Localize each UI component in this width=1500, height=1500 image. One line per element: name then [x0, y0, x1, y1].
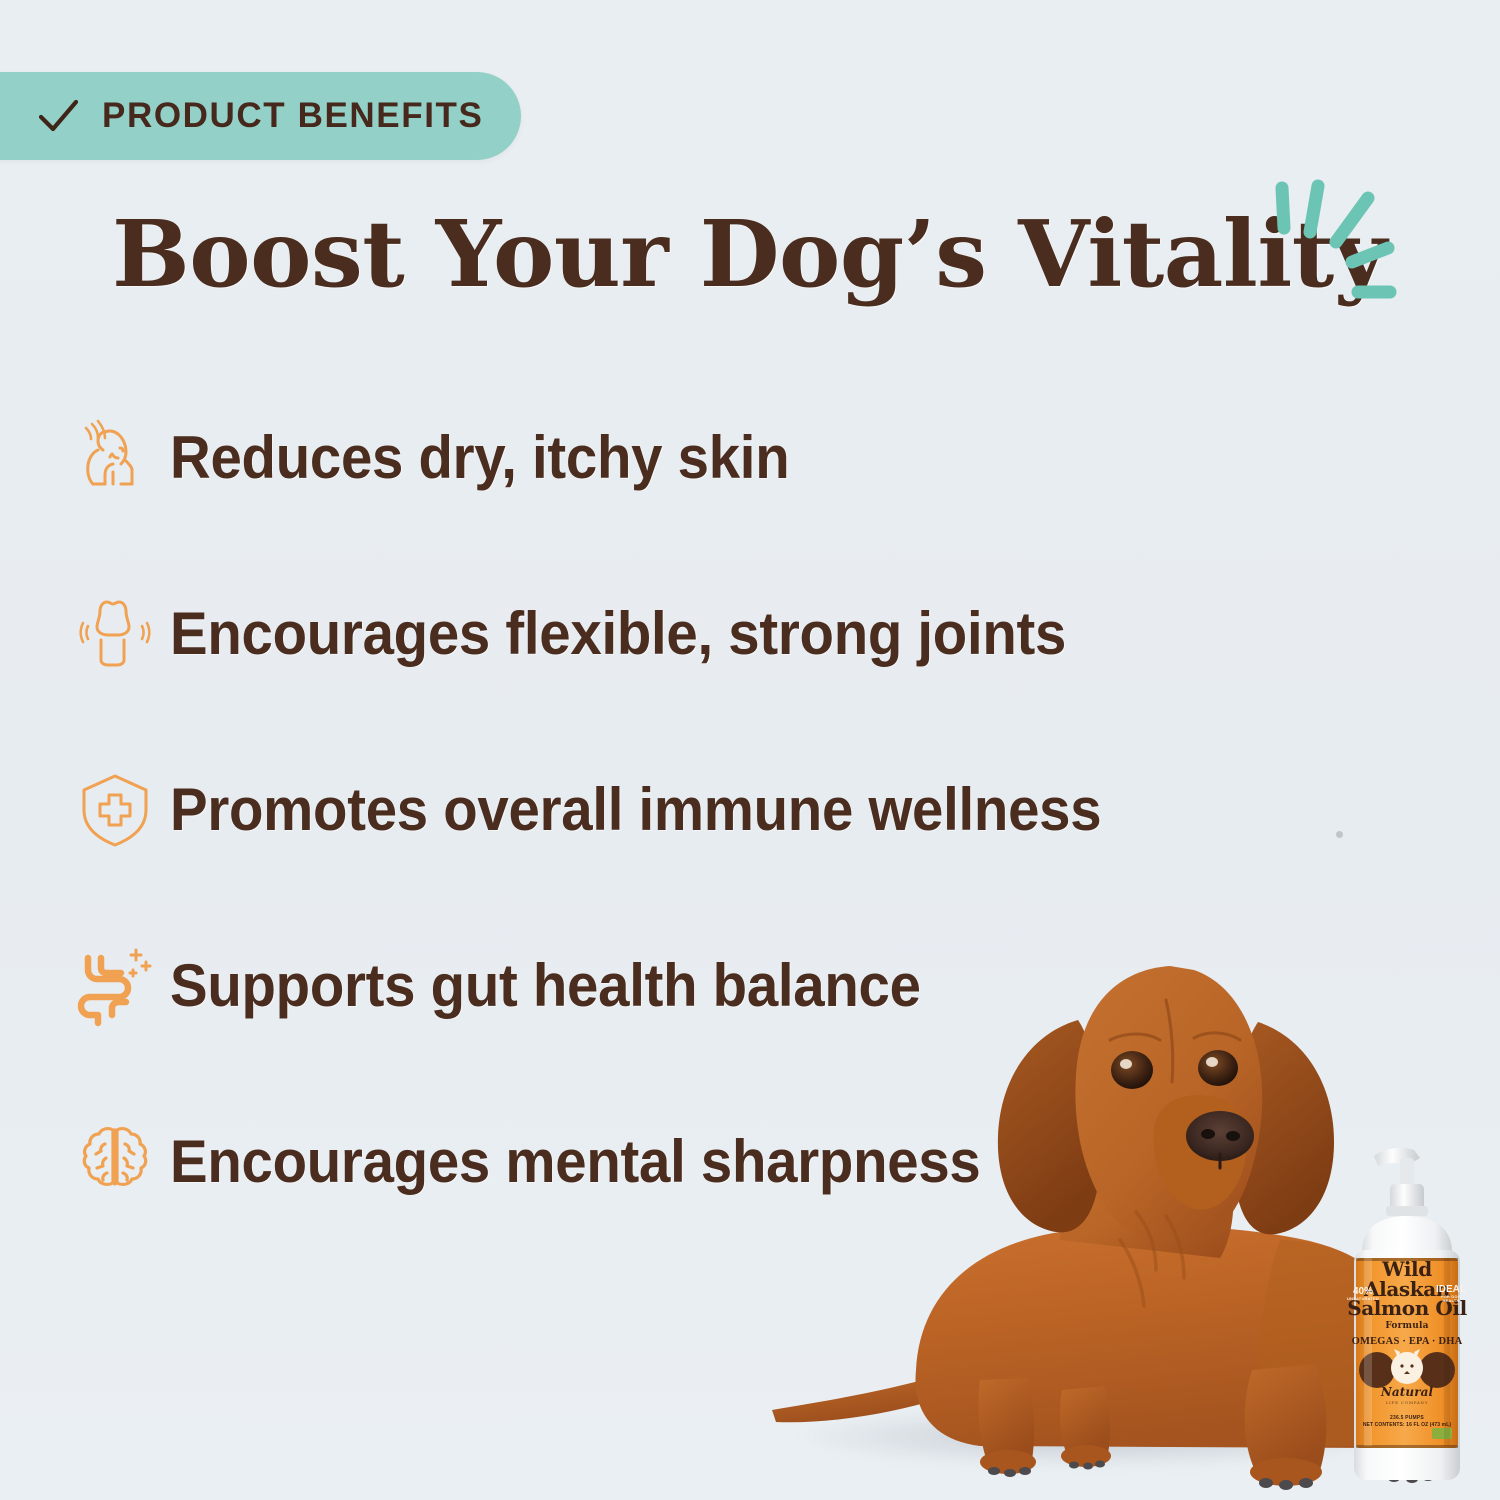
product-benefits-badge: PRODUCT BENEFITS [0, 72, 521, 160]
benefit-item: Reduces dry, itchy skin [60, 398, 1280, 516]
shield-cross-icon [60, 766, 170, 852]
joint-bone-icon [60, 590, 170, 676]
product-bottle: Wild Alaskan Salmon Oil Formula OMEGAS ·… [1332, 1132, 1482, 1492]
badge-label: PRODUCT BENEFITS [102, 96, 483, 136]
page-title: Boost Your Dog’s Vitality [112, 208, 1442, 300]
benefit-label: Reduces dry, itchy skin [170, 426, 789, 489]
intestine-sparkle-icon [60, 942, 170, 1028]
brain-icon [60, 1118, 170, 1204]
check-icon [36, 94, 80, 138]
badge-left-label: UNSATURATED [1347, 1297, 1379, 1301]
background-speck [1336, 831, 1343, 838]
benefit-label: Promotes overall immune wellness [170, 778, 1101, 841]
infographic-page: PRODUCT BENEFITS Boost Your Dog’s Vitali… [0, 0, 1500, 1500]
benefit-label: Encourages mental sharpness [170, 1130, 981, 1193]
benefit-item: Encourages flexible, strong joints [60, 574, 1280, 692]
bottle-badge-ideal: IDEAL FOR DOG HEALTH [1432, 1275, 1470, 1313]
benefit-item: Encourages mental sharpness [60, 1102, 1280, 1220]
benefit-item: Supports gut health balance [60, 926, 1280, 1044]
benefit-item: Promotes overall immune wellness [60, 750, 1280, 868]
benefit-label: Supports gut health balance [170, 954, 921, 1017]
headline-block: Boost Your Dog’s Vitality [112, 208, 1442, 338]
dog-shadow [800, 1408, 1400, 1466]
dog-scratching-icon [60, 414, 170, 500]
bottle-badge-unsaturated: 40% UNSATURATED [1344, 1275, 1382, 1313]
benefit-label: Encourages flexible, strong joints [170, 602, 1066, 665]
benefits-list: Reduces dry, itchy skin Encourages flexi… [60, 398, 1280, 1278]
badge-right-label: FOR DOG HEALTH [1432, 1295, 1470, 1303]
